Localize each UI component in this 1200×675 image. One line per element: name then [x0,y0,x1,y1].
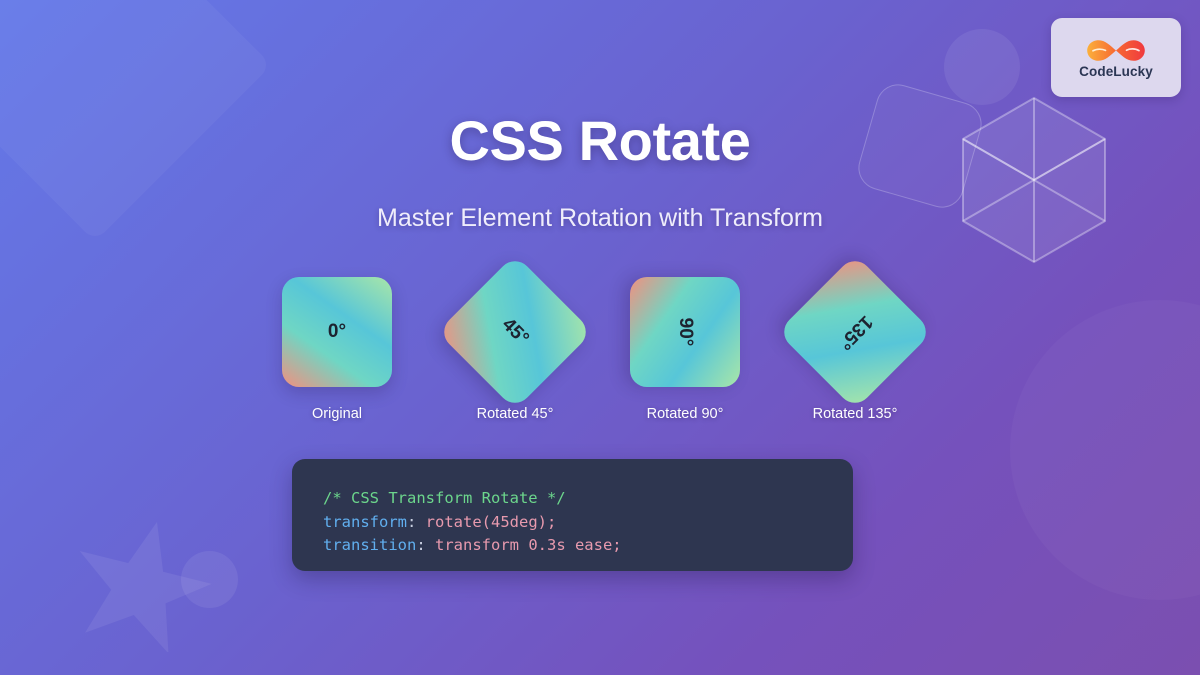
code-property-transition: transition [323,536,416,554]
demo-caption: Rotated 135° [770,406,940,422]
circle-decoration-bottom [181,551,238,608]
demo-caption: Rotated 45° [430,406,600,422]
demo-caption: Rotated 90° [600,406,770,422]
rotate-box-135[interactable]: 135° [777,254,933,410]
code-property-transform: transform [323,513,407,531]
blob-decoration [1010,300,1200,600]
star-decoration [72,512,212,652]
code-value-transform: rotate(45deg); [426,513,557,531]
demo-stage: 135° [770,258,940,406]
code-comment-line: /* CSS Transform Rotate */ [323,489,566,507]
brand-name: CodeLucky [1079,65,1153,79]
rotate-box-angle-label: 90° [674,318,696,347]
rotate-box-angle-label: 0° [328,321,346,343]
code-value-transition: transform 0.3s ease; [435,536,622,554]
page-title: CSS Rotate [0,108,1200,173]
demo-caption: Original [252,406,422,422]
infinity-icon [1085,37,1147,64]
slide-canvas: CodeLucky CSS Rotate Master Element Rota… [0,0,1200,675]
code-colon: : [407,513,426,531]
codelucky-logo-badge[interactable]: CodeLucky [1051,18,1181,97]
demo-stage: 90° [600,258,770,406]
demo-item-original: 0° Original [252,258,422,433]
rotate-box-0[interactable]: 0° [282,277,392,387]
demo-stage: 0° [252,258,422,406]
circle-decoration-top [944,29,1020,105]
page-subtitle: Master Element Rotation with Transform [0,204,1200,233]
rotate-box-45[interactable]: 45° [437,254,593,410]
rotate-box-angle-label: 135° [833,310,876,353]
rotate-box-90[interactable]: 90° [630,277,740,387]
code-snippet-block[interactable]: /* CSS Transform Rotate */ transform: ro… [292,459,853,571]
demo-item-rotated-135: 135° Rotated 135° [770,258,940,433]
demo-stage: 45° [430,258,600,406]
code-snippet-text: /* CSS Transform Rotate */ transform: ro… [323,487,853,558]
demo-item-rotated-90: 90° Rotated 90° [600,258,770,433]
demo-item-rotated-45: 45° Rotated 45° [430,258,600,433]
code-colon: : [416,536,435,554]
rotate-box-angle-label: 45° [497,314,533,350]
rotation-demo-row: 0° Original 45° Rotated 45° 90° Rotated … [252,258,952,433]
